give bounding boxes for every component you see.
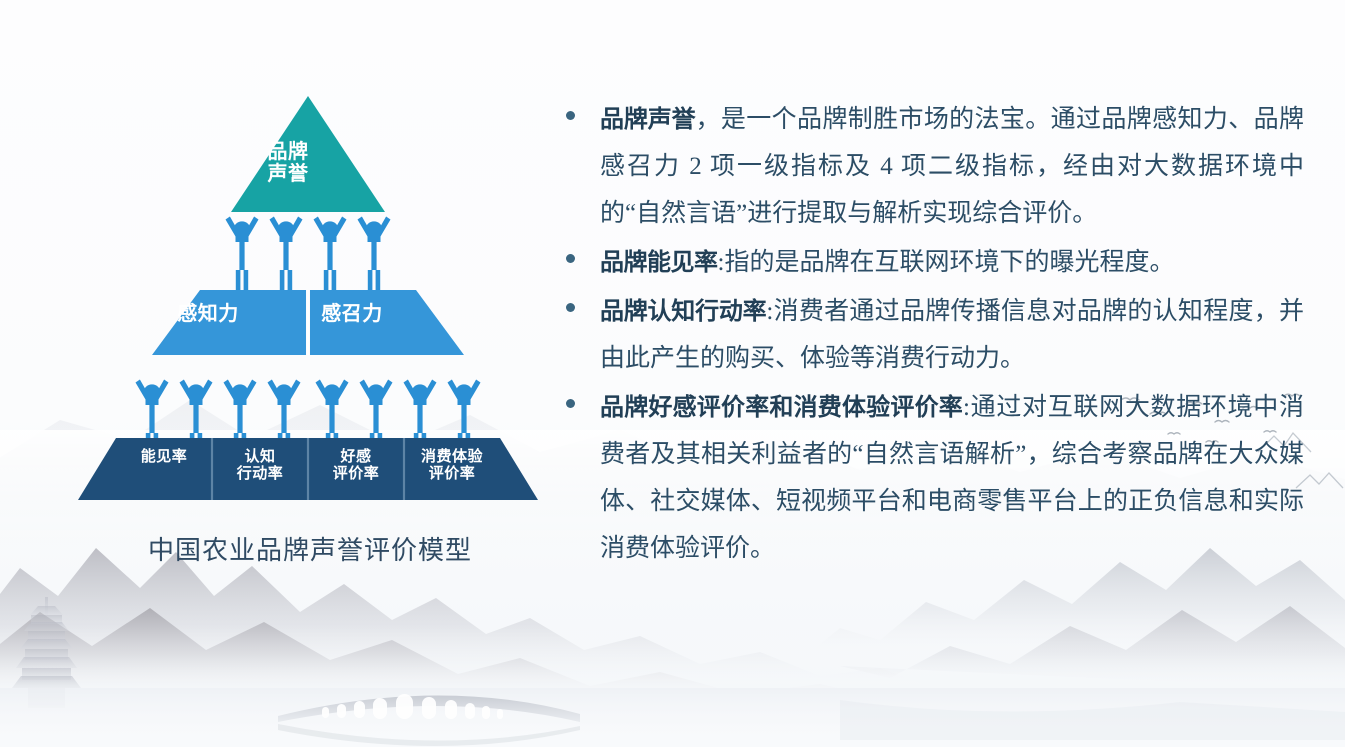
diagram-caption: 中国农业品牌声誉评价模型 bbox=[60, 530, 560, 567]
bullet-heading: 品牌好感评价率和消费体验评价率 bbox=[600, 393, 963, 421]
arched-bridge bbox=[278, 694, 580, 746]
bullet-heading: 品牌能见率 bbox=[600, 248, 718, 276]
bullet-list: 品牌声誉，是一个品牌制胜市场的法宝。通过品牌感知力、品牌感召力 2 项一级指标及… bbox=[552, 96, 1304, 574]
water-band bbox=[0, 688, 1345, 747]
bullet-dot-icon bbox=[566, 254, 575, 263]
water-reflection bbox=[840, 700, 1345, 740]
bullet-text: 品牌好感评价率和消费体验评价率:通过对互联网大数据环境中消费者及其相关利益者的“… bbox=[600, 384, 1304, 572]
bullet-dot-icon bbox=[566, 303, 575, 312]
pyramid-apex-label: 品牌 声誉 bbox=[248, 140, 328, 185]
list-item: 品牌认知行动率:消费者通过品牌传播信息对品牌的认知程度，并由此产生的购买、体验等… bbox=[552, 288, 1304, 382]
pyramid-diagram: 品牌 声誉 感知力 感召力 能见率 认知 行动率 好感 评价率 消费体验 评价率 bbox=[60, 80, 560, 580]
list-item: 品牌好感评价率和消费体验评价率:通过对互联网大数据环境中消费者及其相关利益者的“… bbox=[552, 384, 1304, 572]
bullet-heading: 品牌认知行动率 bbox=[600, 297, 766, 325]
pyramid-base-label-consumption-experience: 消费体验 评价率 bbox=[400, 448, 504, 482]
bullet-body: ，是一个品牌制胜市场的法宝。通过品牌感知力、品牌感召力 2 项一级指标及 4 项… bbox=[600, 106, 1304, 227]
bullet-dot-icon bbox=[566, 111, 575, 120]
pyramid-middle-label-perception: 感知力 bbox=[148, 302, 268, 324]
slide-canvas: 品牌 声誉 感知力 感召力 能见率 认知 行动率 好感 评价率 消费体验 评价率… bbox=[0, 0, 1345, 747]
pyramid-base-label-cognition-action: 认知 行动率 bbox=[208, 448, 312, 482]
list-item: 品牌声誉，是一个品牌制胜市场的法宝。通过品牌感知力、品牌感召力 2 项一级指标及… bbox=[552, 96, 1304, 237]
bullet-heading: 品牌声誉 bbox=[600, 105, 695, 133]
pyramid-middle-label-appeal: 感召力 bbox=[292, 302, 412, 324]
pyramid-base-label-favorability: 好感 评价率 bbox=[304, 448, 408, 482]
pagoda-icon bbox=[12, 597, 81, 708]
bullet-text: 品牌认知行动率:消费者通过品牌传播信息对品牌的认知程度，并由此产生的购买、体验等… bbox=[600, 288, 1304, 382]
figure-row-upper bbox=[226, 217, 391, 297]
bullet-body: :指的是品牌在互联网环境下的曝光程度。 bbox=[718, 249, 1175, 276]
bullet-text: 品牌能见率:指的是品牌在互联网环境下的曝光程度。 bbox=[600, 239, 1304, 286]
pyramid-base-label-visibility: 能见率 bbox=[112, 448, 216, 465]
bullet-text: 品牌声誉，是一个品牌制胜市场的法宝。通过品牌感知力、品牌感召力 2 项一级指标及… bbox=[600, 96, 1304, 237]
bullet-dot-icon bbox=[566, 399, 575, 408]
list-item: 品牌能见率:指的是品牌在互联网环境下的曝光程度。 bbox=[552, 239, 1304, 286]
